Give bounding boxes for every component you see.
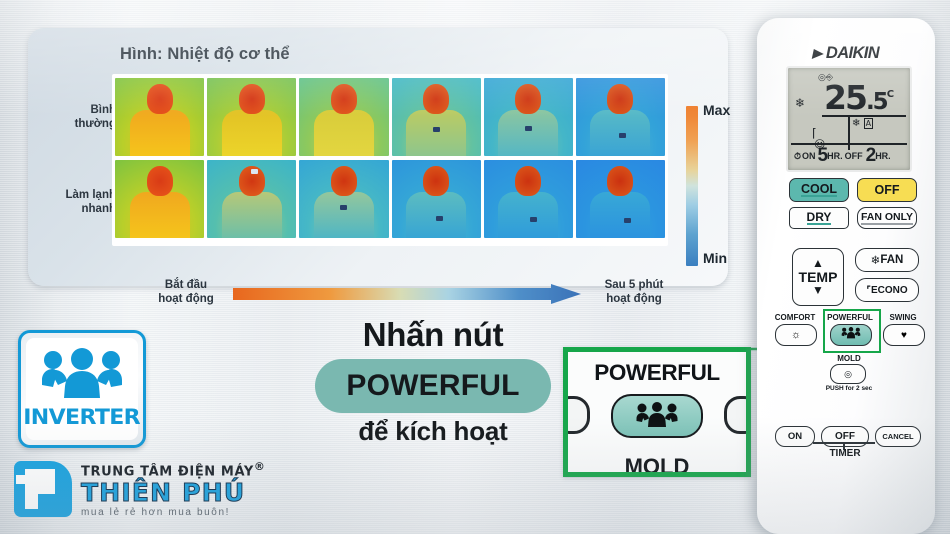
brand-line-2: THIÊN PHÚ <box>81 480 265 505</box>
mold-hint: PUSH for 2 sec <box>809 385 889 392</box>
start-label: Bắt đầu hoạt động <box>146 278 226 307</box>
colorbar-min-label: Min <box>703 250 727 266</box>
off-button[interactable]: OFF <box>857 178 917 202</box>
fan-button[interactable]: ❄FAN <box>855 248 919 272</box>
store-brand-logo: TRUNG TÂM ĐIỆN MÁY® THIÊN PHÚ mua lẻ rẻ … <box>14 456 300 522</box>
thermal-cell <box>299 78 388 156</box>
chevron-down-icon: ▼ <box>812 285 824 296</box>
callout-neighbor-left-button <box>563 396 590 434</box>
headline-block: Nhấn nút POWERFUL để kích hoạt <box>300 318 566 445</box>
chevron-up-icon: ▲ <box>812 258 824 269</box>
thermal-cell <box>299 160 388 238</box>
thermal-row-normal <box>115 78 665 156</box>
powerful-button-callout: POWERFUL MOLD <box>563 347 751 477</box>
daikin-logo-icon <box>812 49 825 59</box>
comfort-button[interactable]: ☼ <box>775 324 817 346</box>
row-label-fastcool: Làm lạnh nhanh <box>36 188 116 217</box>
brand-tagline: mua lẻ rẻ hơn mua buôn! <box>81 507 265 518</box>
mold-button[interactable]: ◎ <box>830 364 866 384</box>
powerful-pill: POWERFUL <box>315 359 551 413</box>
daikin-remote-control: DAIKIN ❄ ◎⎆ 25.5C ❄ A ⌈ ☺ ⏱ ON 5 HR. OFF… <box>757 18 935 534</box>
daikin-brand-label: DAIKIN <box>757 44 935 63</box>
lcd-timer-row: ⏱ ON 5 HR. OFF 2 HR. <box>791 143 907 167</box>
colorbar <box>686 106 698 266</box>
thermal-cell <box>484 160 573 238</box>
comfort-label: COMFORT <box>771 313 819 322</box>
powerful-pill-label: POWERFUL <box>346 369 519 403</box>
inverter-label: INVERTER <box>24 405 141 429</box>
thermal-cell <box>392 78 481 156</box>
dry-button[interactable]: DRY <box>789 207 849 229</box>
end-label: Sau 5 phút hoạt động <box>588 278 680 307</box>
headline-line-3: để kích hoạt <box>300 417 566 446</box>
thermal-comparison-panel: Hình: Nhiệt độ cơ thể Bình thường Làm lạ… <box>28 28 728 286</box>
brand-text: TRUNG TÂM ĐIỆN MÁY® THIÊN PHÚ mua lẻ rẻ … <box>81 460 265 517</box>
swing-button[interactable]: ♥ <box>883 324 925 346</box>
time-progress-arrow-icon <box>233 284 581 304</box>
fan-only-button[interactable]: FAN ONLY <box>857 207 917 229</box>
timer-off-button[interactable]: OFF <box>821 426 869 447</box>
brand-mark-icon <box>14 461 72 517</box>
fan-icon: ❄ <box>871 253 881 267</box>
row-label-normal: Bình thường <box>36 103 116 132</box>
thermal-cell <box>484 78 573 156</box>
thermal-row-fastcool <box>115 160 665 238</box>
cool-button[interactable]: COOL <box>789 178 849 202</box>
callout-powerful-button[interactable] <box>611 394 703 438</box>
thermal-cell <box>392 160 481 238</box>
screenshot-root: Hình: Nhiệt độ cơ thể Bình thường Làm lạ… <box>0 0 950 534</box>
timer-cancel-button[interactable]: CANCEL <box>875 426 921 447</box>
thermal-cell <box>576 160 665 238</box>
temp-button[interactable]: ▲ TEMP ▼ <box>792 248 844 306</box>
powerful-highlight-box <box>823 309 881 353</box>
thermal-cell <box>576 78 665 156</box>
callout-powerful-label: POWERFUL <box>568 360 746 386</box>
lcd-divider-horizontal <box>822 115 906 117</box>
lcd-clock-on-icon: ⏱ <box>794 151 801 162</box>
econo-button[interactable]: ⌜ECONO <box>855 278 919 302</box>
snowflake-icon: ❄ <box>795 96 805 110</box>
thermal-cell <box>115 160 204 238</box>
inverter-badge-inner: INVERTER <box>26 338 138 440</box>
mold-icon: ◎ <box>844 369 852 380</box>
thermal-cell <box>115 78 204 156</box>
callout-mold-label: MOLD <box>568 454 746 477</box>
muscle-figure-icon <box>635 401 679 432</box>
brand-line-1: TRUNG TÂM ĐIỆN MÁY® <box>81 460 265 479</box>
remote-lcd-display: ❄ ◎⎆ 25.5C ❄ A ⌈ ☺ ⏱ ON 5 HR. OFF 2 HR. <box>786 66 912 172</box>
comfort-icon: ☼ <box>791 329 801 341</box>
muscle-figure-icon <box>39 346 125 403</box>
panel-title: Hình: Nhiệt độ cơ thể <box>120 45 290 64</box>
headline-line-1: Nhấn nút <box>300 318 566 353</box>
inverter-badge: INVERTER <box>18 330 146 448</box>
thermal-cell <box>207 78 296 156</box>
swing-icon: ♥ <box>901 330 907 341</box>
timer-label: TIMER <box>815 448 875 459</box>
thermal-image-grid <box>112 74 668 246</box>
lcd-temperature: 25.5C <box>824 78 892 117</box>
colorbar-max-label: Max <box>703 102 730 118</box>
lcd-fan-auto-icons: ❄ A <box>852 118 873 129</box>
swing-label: SWING <box>881 313 925 322</box>
thermal-cell <box>207 160 296 238</box>
timer-on-button[interactable]: ON <box>775 426 815 447</box>
callout-neighbor-right-button <box>724 396 751 434</box>
mold-label: MOLD <box>813 354 885 363</box>
